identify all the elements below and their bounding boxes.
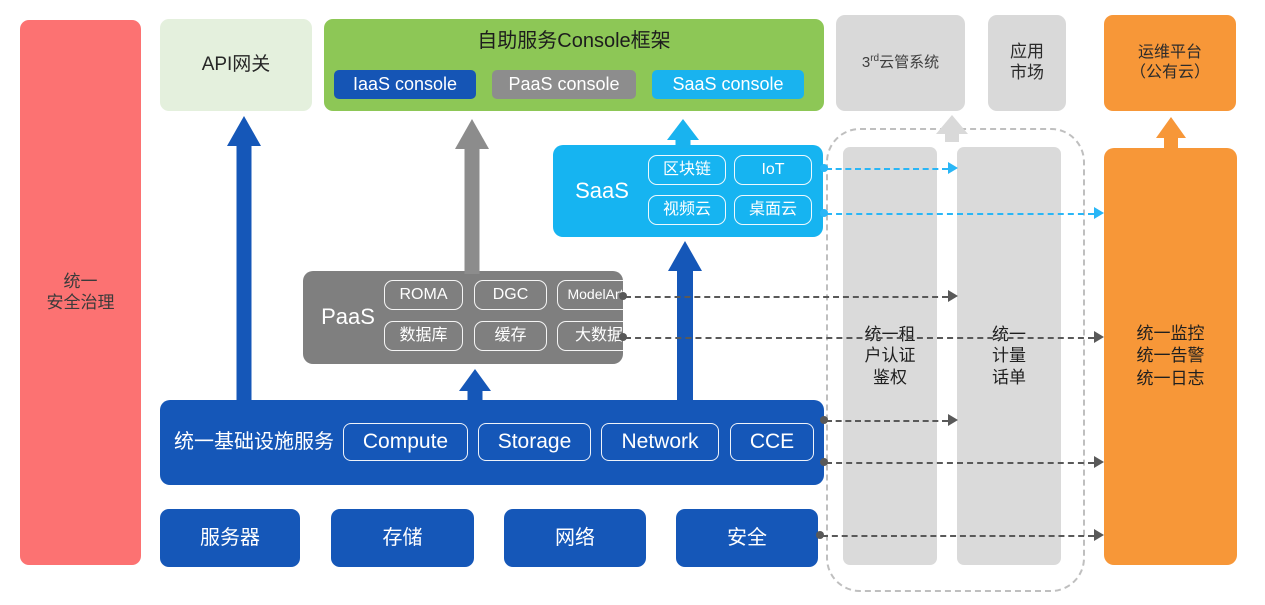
saas-layer-block: SaaS 区块链 IoT 视频云 桌面云 <box>553 145 823 237</box>
arrow-infra-to-saas <box>655 238 715 403</box>
paas-service-dgc[interactable]: DGC <box>474 280 547 310</box>
resource-box-server: 服务器 <box>160 509 300 567</box>
console-frame-title: 自助服务Console框架 <box>324 29 824 53</box>
saas-service-video-cloud[interactable]: 视频云 <box>648 195 726 225</box>
iaas-console-chip[interactable]: IaaS console <box>334 70 476 99</box>
dashed-paas-to-auth-column <box>625 296 948 298</box>
saas-console-chip[interactable]: SaaS console <box>652 70 804 99</box>
arrowhead-infra-to-ops <box>1094 456 1104 468</box>
unified-tenant-auth-column: 统一租 户认证 鉴权 <box>843 147 937 565</box>
paas-console-chip[interactable]: PaaS console <box>492 70 636 99</box>
dashed-resources-to-ops-column <box>822 535 1094 537</box>
arrowhead-saas-to-auth <box>948 162 958 174</box>
paas-service-bigdata[interactable]: 大数据 <box>557 321 641 351</box>
resource-box-security: 安全 <box>676 509 818 567</box>
paas-service-cache[interactable]: 缓存 <box>474 321 547 351</box>
dashed-saas-to-ops-column <box>826 213 1094 215</box>
paas-layer-label: PaaS <box>309 271 387 364</box>
dashed-paas-to-ops-column <box>625 337 1094 339</box>
infra-service-cce[interactable]: CCE <box>730 423 814 461</box>
resource-box-network: 网络 <box>504 509 646 567</box>
arrowhead-paas-to-auth <box>948 290 958 302</box>
unified-monitoring-column: 统一监控 统一告警 统一日志 <box>1104 148 1237 565</box>
unified-security-governance-block: 统一 安全治理 <box>20 20 141 565</box>
arrowhead-infra-to-auth <box>948 414 958 426</box>
arrow-infra-to-api-gateway <box>212 116 276 402</box>
arrow-shared-to-third-cloud <box>925 112 979 142</box>
third-party-cloud-management-block: 3rd云管系统 <box>836 15 965 111</box>
infrastructure-label: 统一基础设施服务 <box>174 400 334 485</box>
architecture-diagram: 统一 安全治理 API网关 自助服务Console框架 IaaS console… <box>0 0 1265 605</box>
arrow-saas-to-saas-console <box>655 116 711 148</box>
arrow-paas-to-paas-console <box>440 116 504 274</box>
arrow-ops-column-to-ops-platform <box>1145 114 1197 150</box>
application-market-block: 应用 市场 <box>988 15 1066 111</box>
unified-metering-billing-column: 统一 计量 话单 <box>957 147 1061 565</box>
third-cloud-label: 3rd云管系统 <box>862 53 939 72</box>
self-service-console-frame: 自助服务Console框架 IaaS console PaaS console … <box>324 19 824 111</box>
infra-service-storage[interactable]: Storage <box>478 423 591 461</box>
paas-layer-block: PaaS ROMA DGC ModelArts 数据库 缓存 大数据 <box>303 271 623 364</box>
saas-service-desktop-cloud[interactable]: 桌面云 <box>734 195 812 225</box>
unified-infrastructure-service-block: 统一基础设施服务 Compute Storage Network CCE <box>160 400 824 485</box>
arrowhead-saas-to-ops <box>1094 207 1104 219</box>
saas-service-blockchain[interactable]: 区块链 <box>648 155 726 185</box>
dashed-infra-to-ops-column <box>826 462 1094 464</box>
saas-service-iot[interactable]: IoT <box>734 155 812 185</box>
paas-service-roma[interactable]: ROMA <box>384 280 463 310</box>
resource-box-storage: 存储 <box>331 509 474 567</box>
infra-service-compute[interactable]: Compute <box>343 423 468 461</box>
arrow-infra-to-paas <box>447 366 503 404</box>
saas-layer-label: SaaS <box>563 145 641 237</box>
arrowhead-paas-to-ops <box>1094 331 1104 343</box>
arrowhead-resources-to-ops <box>1094 529 1104 541</box>
dashed-infra-to-auth-column <box>826 420 948 422</box>
api-gateway-block: API网关 <box>160 19 312 111</box>
infra-service-network[interactable]: Network <box>601 423 719 461</box>
paas-service-database[interactable]: 数据库 <box>384 321 463 351</box>
dashed-saas-to-auth-column <box>826 168 948 170</box>
ops-platform-public-cloud-block: 运维平台 （公有云） <box>1104 15 1236 111</box>
paas-service-modelarts[interactable]: ModelArts <box>557 280 641 310</box>
